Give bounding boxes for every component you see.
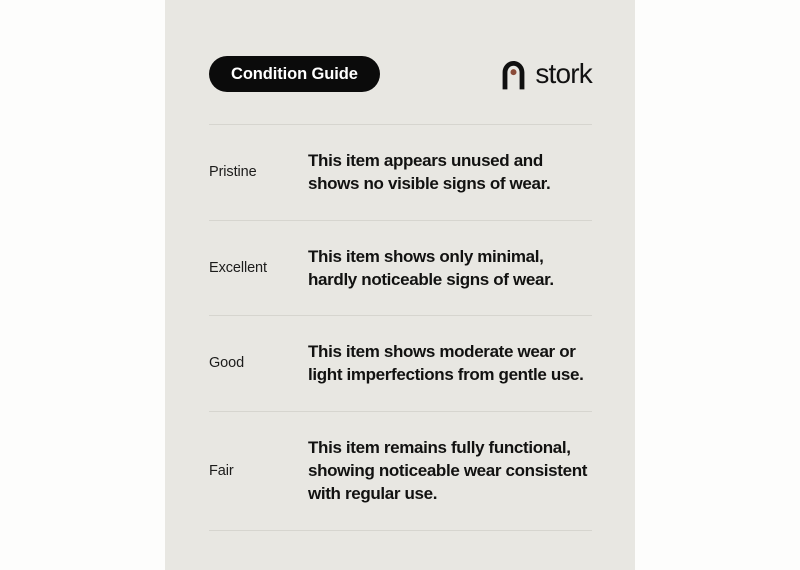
stork-arch-logo-icon	[499, 58, 528, 90]
table-row: Excellent This item shows only minimal, …	[209, 221, 592, 316]
table-row: Pristine This item appears unused and sh…	[209, 125, 592, 220]
condition-description: This item shows only minimal, hardly not…	[308, 221, 592, 316]
condition-label: Pristine	[209, 164, 308, 180]
condition-guide-panel: Condition Guide stork Pristine This item…	[165, 0, 635, 570]
condition-description: This item remains fully functional, show…	[308, 412, 592, 530]
panel-header: Condition Guide stork	[209, 54, 592, 94]
condition-description: This item shows moderate wear or light i…	[308, 316, 592, 411]
condition-label: Fair	[209, 463, 308, 479]
condition-table: Pristine This item appears unused and sh…	[209, 124, 592, 531]
table-row: Fair This item remains fully functional,…	[209, 412, 592, 530]
condition-guide-pill-button[interactable]: Condition Guide	[209, 56, 380, 92]
condition-label: Good	[209, 355, 308, 371]
brand-logo: stork	[499, 58, 592, 90]
condition-description: This item appears unused and shows no vi…	[308, 125, 592, 220]
table-divider	[209, 530, 592, 531]
condition-label: Excellent	[209, 260, 308, 276]
brand-wordmark: stork	[535, 60, 592, 88]
table-row: Good This item shows moderate wear or li…	[209, 316, 592, 411]
